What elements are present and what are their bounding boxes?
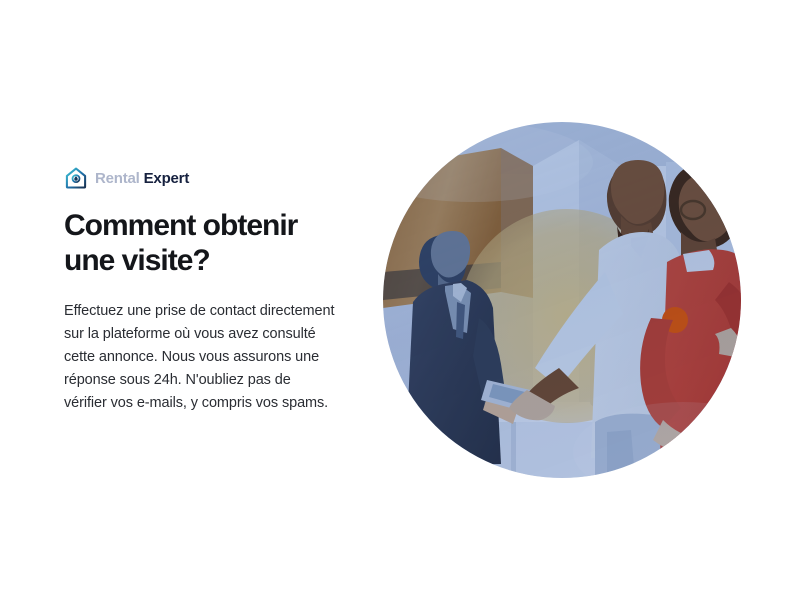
page-title: Comment obtenir une visite? bbox=[64, 208, 354, 278]
brand-name-light: Rental bbox=[95, 170, 140, 187]
house-droplet-logo-icon bbox=[64, 166, 88, 190]
hero-photo-circle bbox=[383, 122, 741, 478]
text-column: Rental Expert Comment obtenir une visite… bbox=[64, 166, 364, 415]
body-paragraph: Effectuez une prise de contact directeme… bbox=[64, 300, 336, 415]
brand-logo[interactable]: Rental Expert bbox=[64, 166, 364, 190]
brand-name-bold: Expert bbox=[144, 170, 190, 187]
kitchen-handshake-illustration bbox=[383, 122, 741, 478]
brand-name: Rental Expert bbox=[95, 171, 189, 186]
slide-canvas: Rental Expert Comment obtenir une visite… bbox=[0, 0, 800, 597]
